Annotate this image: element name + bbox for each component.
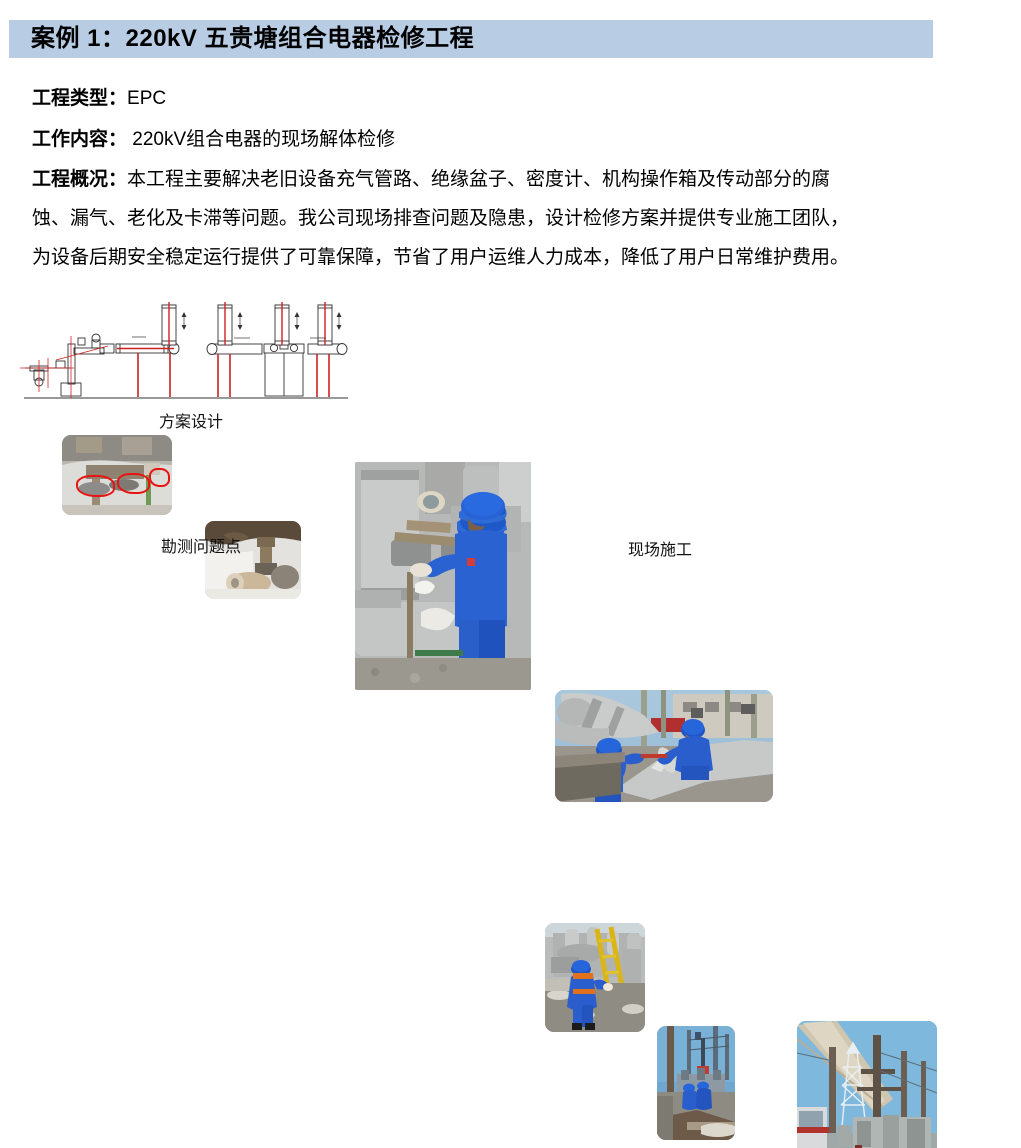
scheme-design-svg bbox=[12, 300, 348, 406]
overview-line-3: 为设备后期安全稳定运行提供了可靠保障，节省了用户运维人力成本，降低了用户日常维护… bbox=[32, 238, 992, 277]
photo-pipe-assembly-art: ∧ bbox=[555, 690, 773, 802]
figure-gallery: 方案设计 bbox=[0, 296, 1021, 574]
photo-site-work bbox=[657, 1026, 735, 1140]
overview-line-1: 工程概况：本工程主要解决老旧设备充气管路、绝缘盆子、密度计、机构操作箱及传动部分… bbox=[32, 160, 992, 199]
photo-survey-corrosion bbox=[62, 435, 172, 515]
work-content-label: 工作内容： bbox=[32, 129, 127, 150]
project-type-line: 工程类型：EPC bbox=[32, 78, 992, 119]
annotation-circle-1 bbox=[76, 475, 115, 497]
slide-title-band: 案例 1：220kV 五贵塘组合电器检修工程 bbox=[9, 20, 933, 58]
photo-main-disassembly-art bbox=[355, 462, 531, 690]
work-content-value: 220kV组合电器的现场解体检修 bbox=[132, 129, 395, 150]
project-type-value: EPC bbox=[127, 88, 166, 109]
photo-main-disassembly bbox=[355, 462, 531, 690]
photo-ladder-worker bbox=[545, 923, 645, 1032]
overview-line-2: 蚀、漏气、老化及卡滞等问题。我公司现场排查问题及隐患，设计检修方案并提供专业施工… bbox=[32, 199, 992, 238]
overview-block: 工程概况：本工程主要解决老旧设备充气管路、绝缘盆子、密度计、机构操作箱及传动部分… bbox=[32, 160, 992, 277]
page-title: 案例 1：220kV 五贵塘组合电器检修工程 bbox=[9, 27, 474, 51]
annotation-circle-2 bbox=[117, 473, 150, 494]
overview-text-1: 本工程主要解决老旧设备充气管路、绝缘盆子、密度计、机构操作箱及传动部分的腐 bbox=[127, 169, 830, 190]
photo-crane-substation-art bbox=[797, 1021, 937, 1148]
work-content-line: 工作内容： 220kV组合电器的现场解体检修 bbox=[32, 119, 992, 160]
slide-body-text: 工程类型：EPC 工作内容： 220kV组合电器的现场解体检修 工程概况：本工程… bbox=[32, 78, 992, 277]
photo-crane-substation bbox=[797, 1021, 937, 1148]
project-type-label: 工程类型： bbox=[32, 88, 127, 109]
photo-pipe-assembly: ∧ bbox=[555, 690, 773, 802]
scheme-design-drawing bbox=[12, 300, 348, 406]
caption-scheme-design: 方案设计 bbox=[86, 408, 296, 432]
caption-construction: 现场施工 bbox=[540, 536, 780, 560]
annotation-circle-3 bbox=[149, 468, 170, 487]
caption-survey: 勘测问题点 bbox=[86, 533, 316, 557]
overview-label: 工程概况： bbox=[32, 169, 127, 190]
photo-ladder-worker-art bbox=[545, 923, 645, 1032]
photo-site-work-art bbox=[657, 1026, 735, 1140]
